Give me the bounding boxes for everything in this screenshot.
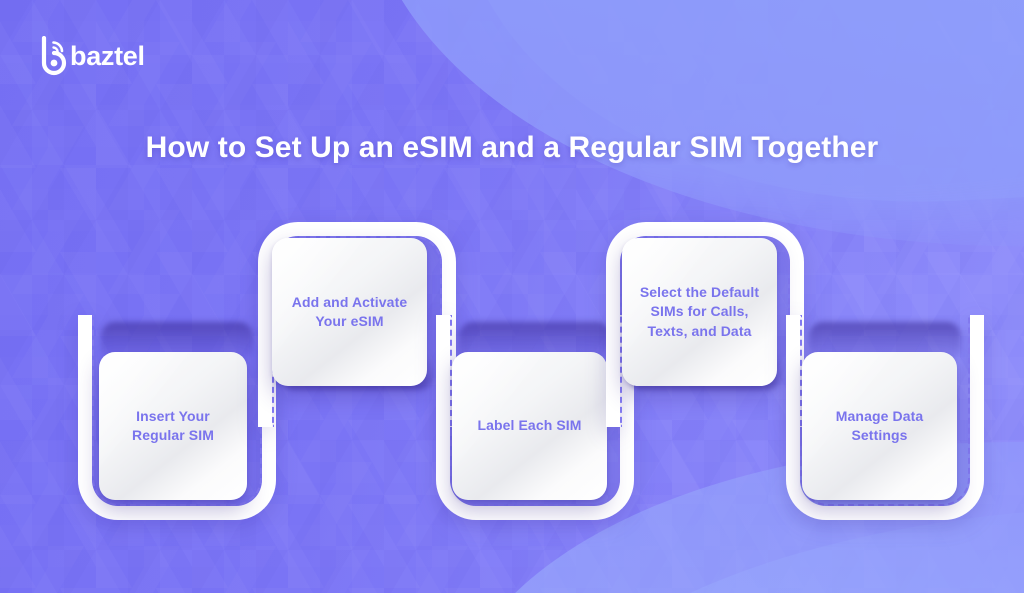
step-card-4[interactable]: Select the Default SIMs for Calls, Texts… <box>622 238 777 386</box>
step-card-3[interactable]: Label Each SIM <box>452 352 607 500</box>
step-label-1: Insert Your Regular SIM <box>109 407 237 446</box>
step-card-1[interactable]: Insert Your Regular SIM <box>99 352 247 500</box>
step-label-3: Label Each SIM <box>477 416 581 435</box>
steps-container: Insert Your Regular SIM Add and Activate… <box>0 0 1024 593</box>
step-card-5[interactable]: Manage Data Settings <box>802 352 957 500</box>
infographic-canvas: baztel How to Set Up an eSIM and a Regul… <box>0 0 1024 593</box>
step-label-2: Add and Activate Your eSIM <box>282 293 417 332</box>
step-label-5: Manage Data Settings <box>812 407 947 446</box>
step-card-2[interactable]: Add and Activate Your eSIM <box>272 238 427 386</box>
step-label-4: Select the Default SIMs for Calls, Texts… <box>632 283 767 341</box>
